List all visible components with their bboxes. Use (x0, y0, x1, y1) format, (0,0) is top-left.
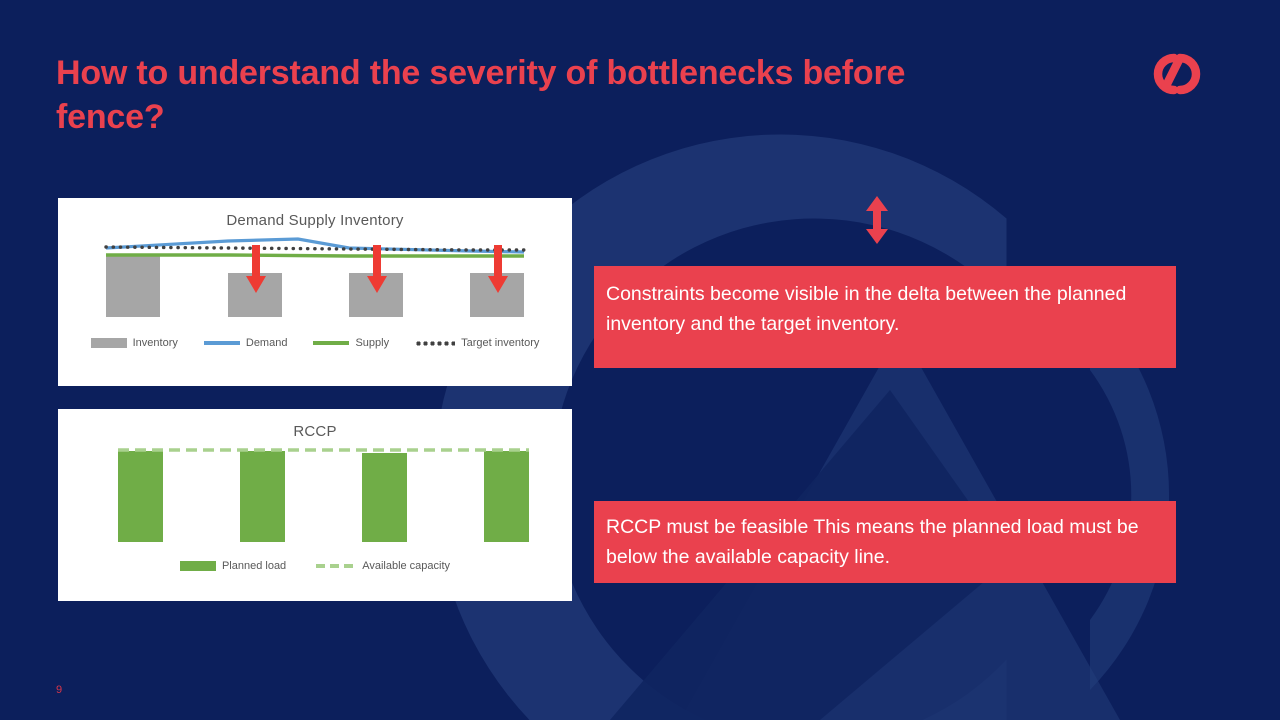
page-title: How to understand the severity of bottle… (56, 52, 956, 139)
legend-label-planned-load: Planned load (222, 560, 286, 572)
chart-legend-rccp: Planned load Available capacity (58, 560, 572, 572)
legend-label-demand: Demand (246, 337, 288, 349)
chart-title-rccp: RCCP (58, 409, 572, 440)
legend-swatch-supply-icon (313, 341, 349, 345)
chart-title-dsi: Demand Supply Inventory (58, 198, 572, 229)
legend-swatch-target-inventory-icon (415, 341, 455, 346)
plot-area-rccp (58, 440, 572, 560)
legend-label-supply: Supply (355, 337, 389, 349)
infinity-loop-logo (1136, 46, 1222, 102)
rccp-callout: RCCP must be feasible This means the pla… (594, 501, 1176, 583)
legend-swatch-available-capacity-icon (316, 564, 356, 568)
page-number: 9 (56, 684, 62, 696)
gap-arrow-down (246, 245, 266, 293)
legend-item-demand: Demand (204, 337, 288, 349)
legend-item-target-inventory: Target inventory (415, 337, 539, 349)
legend-swatch-inventory-icon (91, 338, 127, 348)
legend-item-planned-load: Planned load (180, 560, 286, 572)
double-headed-arrow-icon (862, 196, 892, 244)
chart-legend-dsi: Inventory Demand Supply Target inventory (58, 337, 572, 349)
constraints-callout: Constraints become visible in the delta … (594, 266, 1176, 368)
line-supply (106, 255, 524, 256)
legend-label-inventory: Inventory (133, 337, 178, 349)
legend-item-available-capacity: Available capacity (316, 560, 450, 572)
chart-panel-rccp: RCCP Planned load Available capacity (58, 409, 572, 601)
legend-swatch-demand-icon (204, 341, 240, 345)
gap-arrow-down (367, 245, 387, 293)
gap-arrow-down (488, 245, 508, 293)
chart-panel-demand-supply-inventory: Demand Supply Inventory (58, 198, 572, 386)
legend-item-inventory: Inventory (91, 337, 178, 349)
slide-canvas: How to understand the severity of bottle… (0, 0, 1280, 720)
legend-label-target-inventory: Target inventory (461, 337, 539, 349)
legend-item-supply: Supply (313, 337, 389, 349)
legend-swatch-planned-load-icon (180, 561, 216, 571)
legend-label-available-capacity: Available capacity (362, 560, 450, 572)
plot-area-dsi (58, 229, 572, 337)
